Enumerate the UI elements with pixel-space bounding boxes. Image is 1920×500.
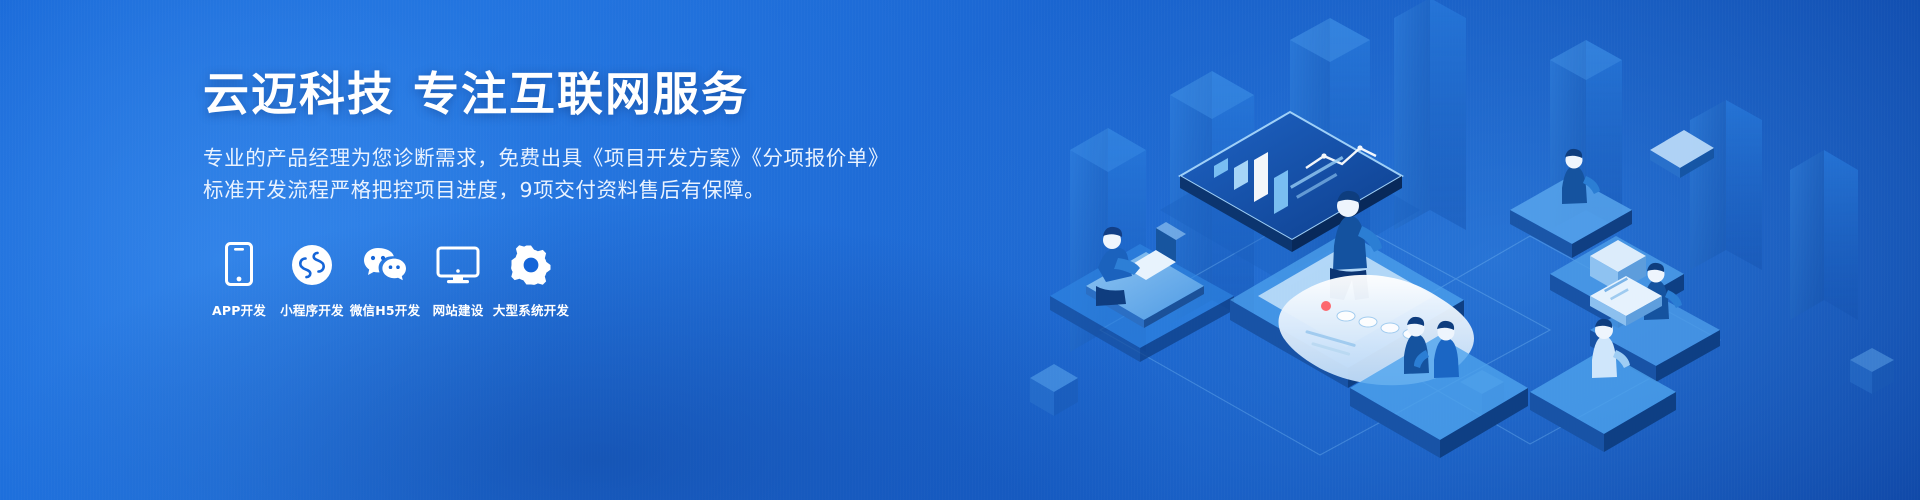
hero-content: 云迈科技 专注互联网服务 专业的产品经理为您诊断需求，免费出具《项目开发方案》《… [203,66,903,319]
service-item-website[interactable]: 网站建设 [422,240,494,319]
service-item-miniprogram[interactable]: 小程序开发 [276,240,348,319]
monitor-icon [436,240,480,286]
mobile-phone-icon [225,240,253,286]
service-item-large-system[interactable]: 大型系统开发 [495,240,567,319]
service-label: 小程序开发 [280,300,344,319]
service-label: 微信H5开发 [350,300,420,319]
hero-illustration [990,0,1920,500]
mini-program-icon [291,240,333,286]
wechat-icon [362,240,408,286]
service-label: 大型系统开发 [493,300,569,319]
subtitle-line-1: 专业的产品经理为您诊断需求，免费出具《项目开发方案》《分项报价单》 [203,142,903,174]
gear-icon [510,240,552,286]
page-title: 云迈科技 专注互联网服务 [203,66,903,122]
hero-banner: 云迈科技 专注互联网服务 专业的产品经理为您诊断需求，免费出具《项目开发方案》《… [0,0,1920,500]
subtitle-line-2: 标准开发流程严格把控项目进度，9项交付资料售后有保障。 [203,174,903,206]
hero-subtitle: 专业的产品经理为您诊断需求，免费出具《项目开发方案》《分项报价单》 标准开发流程… [203,142,903,206]
service-label: APP开发 [212,300,266,319]
service-list: APP开发 小程序开发 [203,240,903,319]
service-item-app[interactable]: APP开发 [203,240,275,319]
service-item-wechat-h5[interactable]: 微信H5开发 [349,240,421,319]
service-label: 网站建设 [433,300,484,319]
